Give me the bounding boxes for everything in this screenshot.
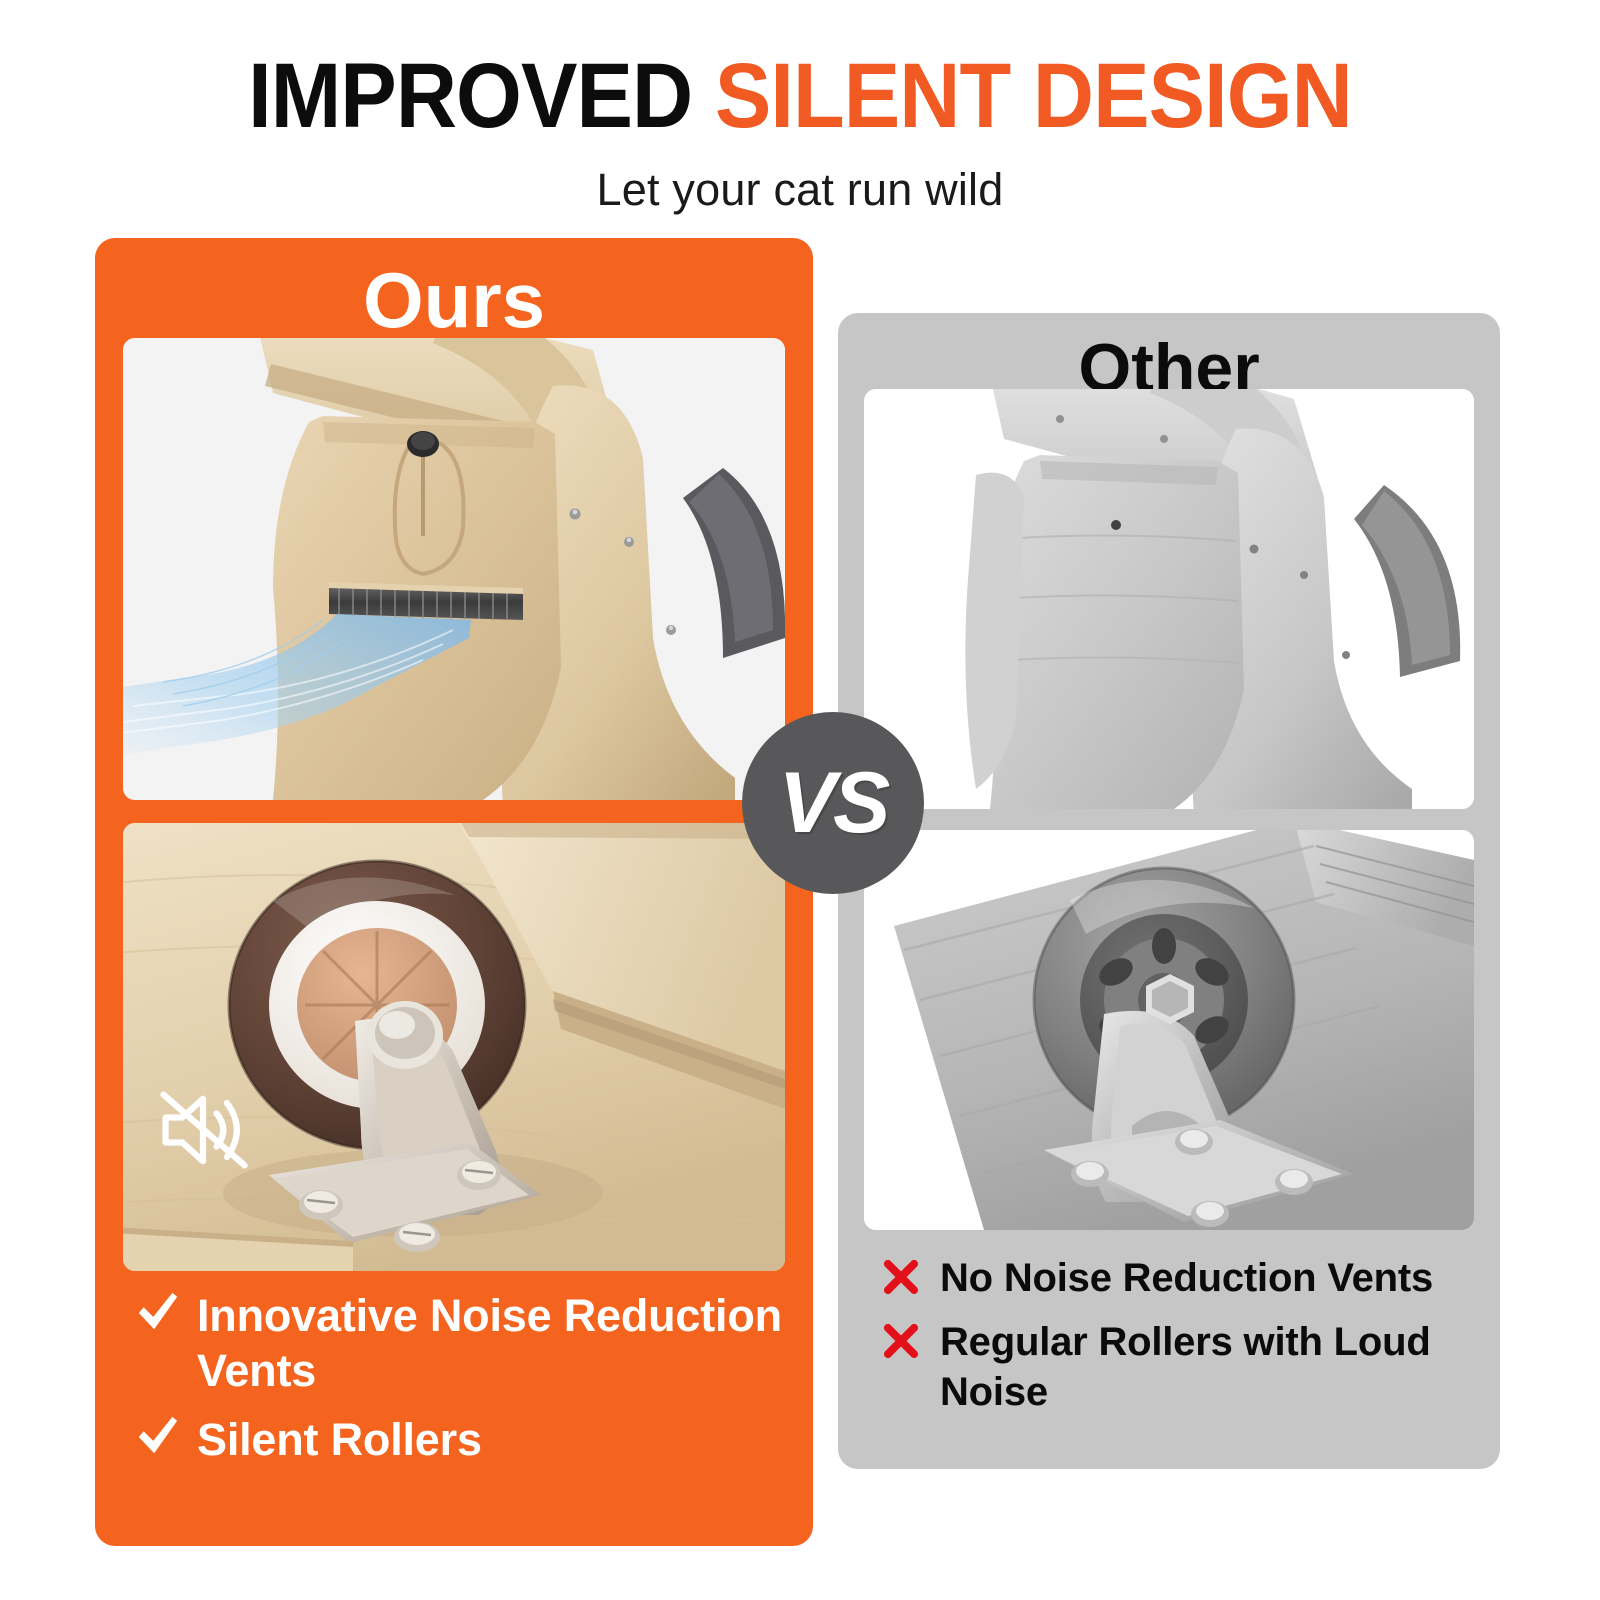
silent-roller-photo bbox=[123, 823, 785, 1271]
other-feature-list: No Noise Reduction Vents Regular Rollers… bbox=[874, 1253, 1484, 1431]
other-panel: Other bbox=[838, 313, 1500, 1469]
cross-icon-glyph bbox=[880, 1320, 922, 1362]
header: IMPROVED SILENT DESIGN Let your cat run … bbox=[0, 0, 1600, 226]
list-item-label: Innovative Noise Reduction Vents bbox=[197, 1288, 791, 1398]
vent-illustration bbox=[123, 338, 785, 800]
ours-feature-list: Innovative Noise Reduction Vents Silent … bbox=[131, 1288, 791, 1481]
cross-icon-glyph bbox=[880, 1256, 922, 1298]
list-item: Silent Rollers bbox=[131, 1412, 791, 1467]
regular-caster-illustration bbox=[864, 830, 1474, 1230]
no-vent-illustration bbox=[864, 389, 1474, 809]
list-item-label: Silent Rollers bbox=[197, 1412, 482, 1467]
list-item-label: No Noise Reduction Vents bbox=[940, 1253, 1433, 1303]
speaker-mute-icon bbox=[151, 1078, 255, 1182]
title-part-silent-design: SILENT DESIGN bbox=[715, 45, 1352, 147]
cross-icon bbox=[874, 1253, 928, 1302]
no-vent-photo bbox=[864, 389, 1474, 809]
vs-label: VS bbox=[779, 760, 888, 846]
regular-roller-photo bbox=[864, 830, 1474, 1230]
title-part-improved: IMPROVED bbox=[248, 45, 692, 147]
page-subtitle: Let your cat run wild bbox=[0, 162, 1600, 218]
list-item: No Noise Reduction Vents bbox=[874, 1253, 1484, 1303]
check-icon-glyph bbox=[135, 1414, 181, 1460]
list-item-label: Regular Rollers with Loud Noise bbox=[940, 1317, 1484, 1417]
ours-panel: Ours bbox=[95, 238, 813, 1546]
list-item: Innovative Noise Reduction Vents bbox=[131, 1288, 791, 1398]
vs-badge: VS bbox=[742, 712, 924, 894]
check-icon bbox=[131, 1412, 185, 1464]
page-title: IMPROVED SILENT DESIGN bbox=[64, 46, 1536, 146]
cross-icon bbox=[874, 1317, 928, 1366]
ours-heading: Ours bbox=[95, 254, 813, 346]
check-icon-glyph bbox=[135, 1290, 181, 1336]
check-icon bbox=[131, 1288, 185, 1340]
list-item: Regular Rollers with Loud Noise bbox=[874, 1317, 1484, 1417]
silent-caster-illustration bbox=[123, 823, 785, 1271]
noise-reduction-vent-photo bbox=[123, 338, 785, 800]
